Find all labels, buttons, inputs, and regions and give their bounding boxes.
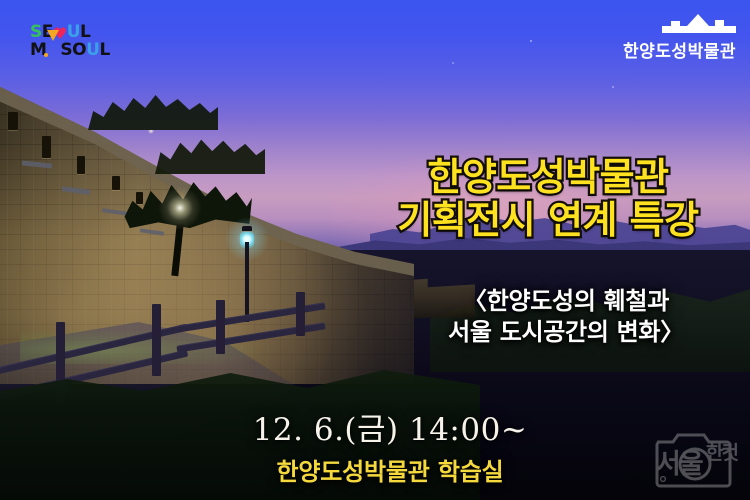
seoul-my-soul-logo: S E ♥ U L M S O U L	[30, 24, 110, 59]
fence-post	[152, 304, 161, 376]
lamp-cap	[242, 226, 252, 231]
poster-subtitle: 〈한양도성의 훼철과 서울 도시공간의 변화〉	[388, 286, 744, 347]
event-poster: S E ♥ U L M S O U L 한양도성박물관 한양도성박물관 기획전시…	[0, 0, 750, 500]
seoul-logo-line-2: M S O U L	[30, 42, 110, 59]
seoul-logo-letter-l2: L	[99, 42, 109, 59]
seoul-logo-letter-s: S	[30, 24, 42, 41]
fence-post	[216, 300, 225, 354]
wall-embrasure	[42, 136, 51, 158]
seoul-logo-letter-s2: S	[60, 42, 72, 59]
subtitle-line-1: 〈한양도성의 훼철과	[463, 286, 669, 315]
subtitle-line-2: 서울 도시공간의 변화〉	[388, 317, 744, 348]
wall-embrasure	[8, 112, 18, 130]
watermark-hancut-text: 한컷	[706, 438, 737, 465]
wall-embrasure	[112, 176, 120, 190]
seoul-logo-line-1: S E ♥ U L	[30, 24, 110, 41]
wall-light-flare	[158, 186, 202, 230]
tree-trunk	[171, 224, 183, 276]
event-venue: 한양도성박물관 학습실	[200, 452, 580, 487]
seoul-logo-letter-o: O	[72, 42, 86, 59]
museum-logo: 한양도성박물관	[623, 12, 736, 62]
exclamation-triangle-icon	[46, 42, 60, 59]
wall-embrasure	[77, 156, 85, 174]
poster-schedule: 12. 6.(금) 14:00~ 한양도성박물관 학습실	[200, 404, 580, 487]
star	[612, 86, 614, 88]
poster-headline: 한양도성박물관 기획전시 연계 특강	[352, 156, 744, 243]
headline-line-2: 기획전시 연계 특강	[352, 199, 744, 242]
seoul-logo-letter-l: L	[80, 24, 90, 41]
seoul-logo-letter-u: U	[67, 24, 80, 41]
museum-name-label: 한양도성박물관	[623, 37, 736, 62]
star	[530, 40, 532, 42]
event-date-time: 12. 6.(금) 14:00~	[200, 404, 580, 449]
fortress-wall-mark-icon	[662, 12, 736, 34]
seoul-logo-letter-u2: U	[86, 42, 99, 59]
seoul-hancut-watermark: 서울 한컷	[654, 426, 740, 492]
watermark-seoul-text: 서울	[656, 442, 702, 481]
fence-post	[296, 292, 305, 336]
watermark-text: 서울 한컷	[654, 426, 740, 492]
star	[452, 62, 454, 64]
headline-line-1: 한양도성박물관	[427, 155, 668, 199]
